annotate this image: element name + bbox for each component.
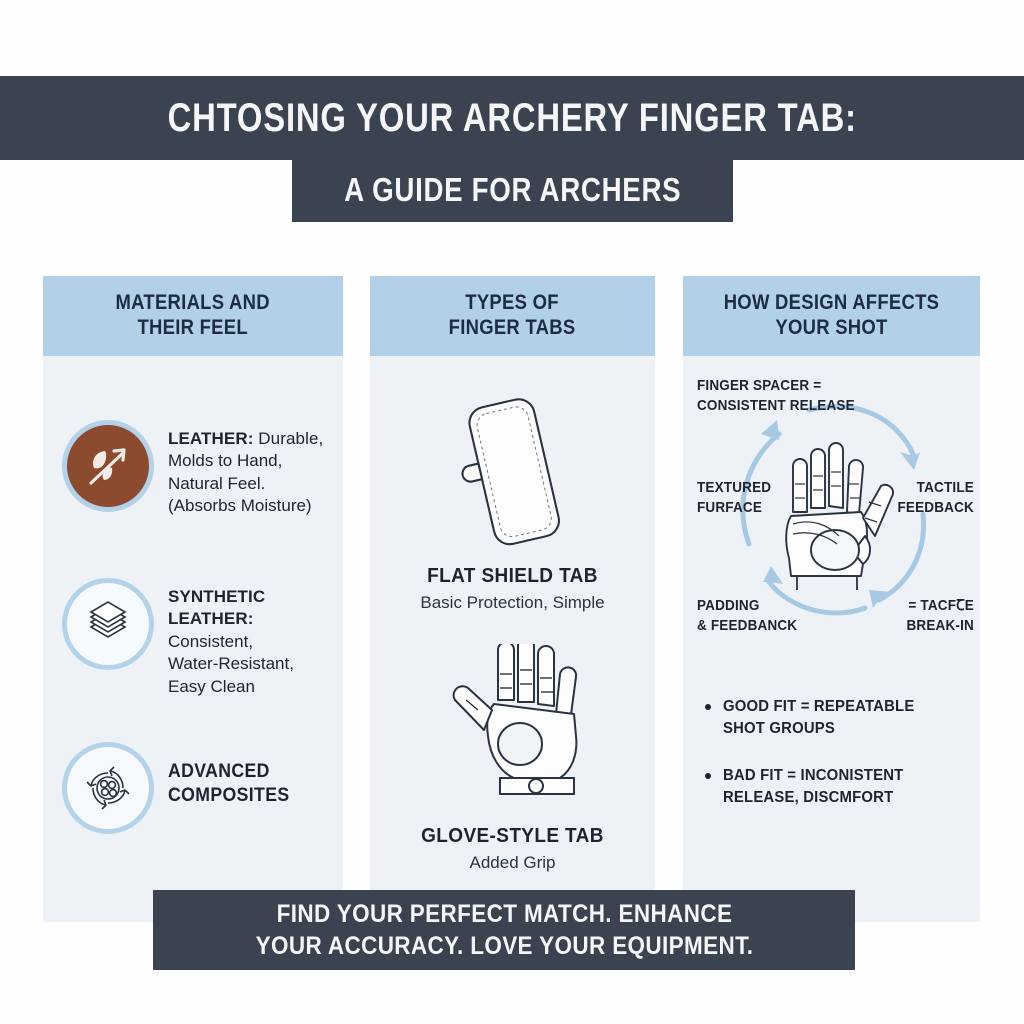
cycle-label-tactile-feedback: TACTILE FEEDBACK bbox=[898, 478, 974, 517]
page-subtitle: A GUIDE FOR ARCHERS bbox=[344, 171, 681, 209]
column-materials-header: MATERIALS AND THEIR FEEL bbox=[43, 276, 343, 356]
cycle-label-break-in: = TACFꞆE BREAK-IN bbox=[907, 596, 974, 635]
material-desc: Molds to Hand, bbox=[168, 450, 323, 472]
material-desc: Consistent, bbox=[168, 631, 343, 653]
list-item: GOOD FIT = REPEATABLE SHOT GROUPS bbox=[705, 696, 967, 739]
tab-type-flat-shield: FLAT SHIELD TAB Basic Protection, Simple bbox=[370, 384, 655, 613]
list-item: LEATHER: Durable, Molds to Hand, Natural… bbox=[62, 420, 323, 518]
design-cycle-diagram: FINGER SPACER = CONSISTENT RELEASE TEXTU… bbox=[683, 364, 980, 674]
flat-shield-tab-title: FLAT SHIELD TAB bbox=[377, 565, 648, 588]
list-item-text: SYNTHETIC LEATHER: Consistent, Water-Res… bbox=[168, 578, 343, 698]
stacked-sheets-icon bbox=[62, 578, 154, 670]
tab-type-glove-style: GLOVE-STYLE TAB Added Grip bbox=[370, 644, 655, 873]
flat-shield-tab-icon bbox=[370, 384, 655, 559]
list-item: ADVANCED COMPOSITES bbox=[62, 742, 299, 834]
bullet-dot-icon bbox=[705, 704, 711, 710]
cycle-label-finger-spacer: FINGER SPACER = CONSISTENT RELEASE bbox=[697, 376, 855, 415]
footer-banner: FIND YOUR PERFECT MATCH. ENHANCE YOUR AC… bbox=[153, 890, 855, 970]
bullet-text: BAD FIT = INCONISTENT RELEASE, DISCMFORT bbox=[723, 765, 903, 808]
leaf-arrow-icon bbox=[62, 420, 154, 512]
material-label-composites: ADVANCED bbox=[168, 760, 290, 784]
column-design: HOW DESIGN AFFECTS YOUR SHOT bbox=[683, 276, 980, 922]
list-item: SYNTHETIC LEATHER: Consistent, Water-Res… bbox=[62, 578, 343, 698]
material-label-composites-2: COMPOSITES bbox=[168, 784, 290, 808]
cycle-label-textured-surface: TEXTURED FURFACE bbox=[697, 478, 771, 517]
flat-shield-tab-subtitle: Basic Protection, Simple bbox=[370, 593, 655, 613]
title-banner: CHTOSING YOUR ARCHERY FINGER TAB: bbox=[0, 76, 1024, 160]
column-materials: MATERIALS AND THEIR FEEL LEATHER: Durabl… bbox=[43, 276, 343, 922]
material-desc: Natural Feel. bbox=[168, 473, 323, 495]
material-desc: (Absorbs Moisture) bbox=[168, 495, 323, 517]
bullet-text: GOOD FIT = REPEATABLE SHOT GROUPS bbox=[723, 696, 914, 739]
bullet-dot-icon bbox=[705, 773, 711, 779]
list-item: BAD FIT = INCONISTENT RELEASE, DISCMFORT bbox=[705, 765, 967, 808]
glove-style-tab-title: GLOVE-STYLE TAB bbox=[377, 825, 648, 848]
infographic-canvas: CHTOSING YOUR ARCHERY FINGER TAB: A GUID… bbox=[0, 0, 1024, 1024]
column-design-header: HOW DESIGN AFFECTS YOUR SHOT bbox=[683, 276, 980, 356]
page-title: CHTOSING YOUR ARCHERY FINGER TAB: bbox=[167, 96, 856, 141]
recycle-composite-icon bbox=[62, 742, 154, 834]
column-design-title: HOW DESIGN AFFECTS YOUR SHOT bbox=[724, 291, 940, 341]
footer-text: FIND YOUR PERFECT MATCH. ENHANCE YOUR AC… bbox=[255, 898, 753, 962]
material-label-synthetic: SYNTHETIC LEATHER: bbox=[168, 586, 343, 631]
glove-style-tab-subtitle: Added Grip bbox=[370, 853, 655, 873]
glove-hand-icon bbox=[370, 644, 655, 819]
column-types: TYPES OF FINGER TABS FLAT SHIELD TAB Bas… bbox=[370, 276, 655, 922]
list-item-text: ADVANCED COMPOSITES bbox=[168, 742, 299, 809]
material-desc: Easy Clean bbox=[168, 676, 343, 698]
subtitle-banner: A GUIDE FOR ARCHERS bbox=[292, 158, 733, 222]
cycle-label-padding-feedback: PADDING & FEEDBANCK bbox=[697, 596, 797, 635]
list-item-text: LEATHER: Durable, Molds to Hand, Natural… bbox=[168, 420, 323, 518]
material-label-leather: LEATHER: Durable, bbox=[168, 428, 323, 450]
column-materials-title: MATERIALS AND THEIR FEEL bbox=[116, 291, 270, 341]
design-bullet-list: GOOD FIT = REPEATABLE SHOT GROUPS BAD FI… bbox=[705, 696, 967, 834]
material-desc: Water-Resistant, bbox=[168, 653, 343, 675]
column-types-title: TYPES OF FINGER TABS bbox=[449, 291, 576, 341]
column-types-header: TYPES OF FINGER TABS bbox=[370, 276, 655, 356]
